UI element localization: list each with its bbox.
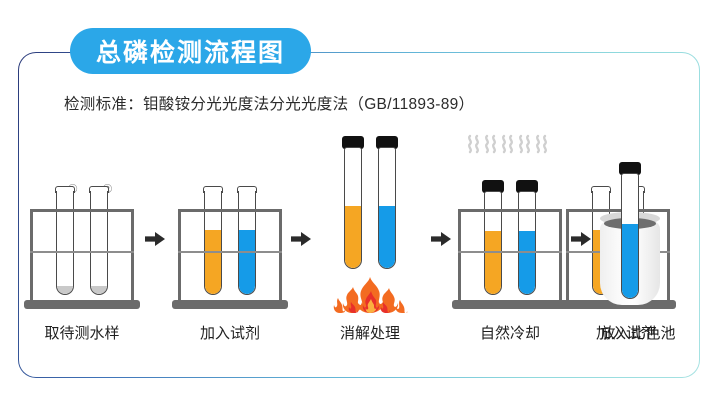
tube-liquid <box>345 206 361 268</box>
flow-arrow-3 <box>430 229 452 249</box>
step-2-caption: 加入试剂 <box>170 322 290 343</box>
flow-step-1: ① ② 取待测水样 <box>22 130 142 345</box>
flow-arrow-2 <box>290 229 312 249</box>
step-2-illustration <box>170 134 290 309</box>
rack-frame <box>30 209 134 301</box>
step-6-illustration <box>578 134 698 309</box>
rack-shelf <box>30 251 134 253</box>
flow-step-6: 放入比色池 <box>578 130 698 345</box>
tube-rack <box>178 205 282 309</box>
rack-base <box>24 300 140 309</box>
step-6-caption: 放入比色池 <box>578 322 698 343</box>
step-3-caption: 消解处理 <box>310 322 430 343</box>
test-tube-1 <box>344 147 362 269</box>
step-1-caption: 取待测水样 <box>22 322 142 343</box>
step-3-illustration <box>310 134 430 309</box>
tube-body <box>344 147 362 269</box>
tube-liquid <box>622 224 638 298</box>
flow-step-2: 加入试剂 <box>170 130 290 345</box>
arrow-right-icon <box>145 232 165 246</box>
step-1-illustration: ① ② <box>22 134 142 309</box>
arrow-right-icon <box>291 232 311 246</box>
test-tube-2 <box>621 173 639 299</box>
flow-arrow-1 <box>144 229 166 249</box>
tube-body <box>621 173 639 299</box>
tube-liquid <box>379 206 395 268</box>
standard-text: 检测标准：钼酸铵分光光度法分光光度法（GB/11893-89） <box>64 92 474 114</box>
page-title: 总磷检测流程图 <box>96 33 285 69</box>
flow-step-3: 消解处理 <box>310 130 430 345</box>
rack-shelf <box>178 251 282 253</box>
rack-frame <box>178 209 282 301</box>
rack-base <box>172 300 288 309</box>
process-flow: ① ② 取待测水样 <box>22 130 698 345</box>
tube-body <box>378 147 396 269</box>
page-title-pill: 总磷检测流程图 <box>70 28 311 74</box>
arrow-right-icon <box>431 232 451 246</box>
test-tube-2 <box>378 147 396 269</box>
tube-rack: ① ② <box>30 205 134 309</box>
flame-icon <box>328 269 412 313</box>
